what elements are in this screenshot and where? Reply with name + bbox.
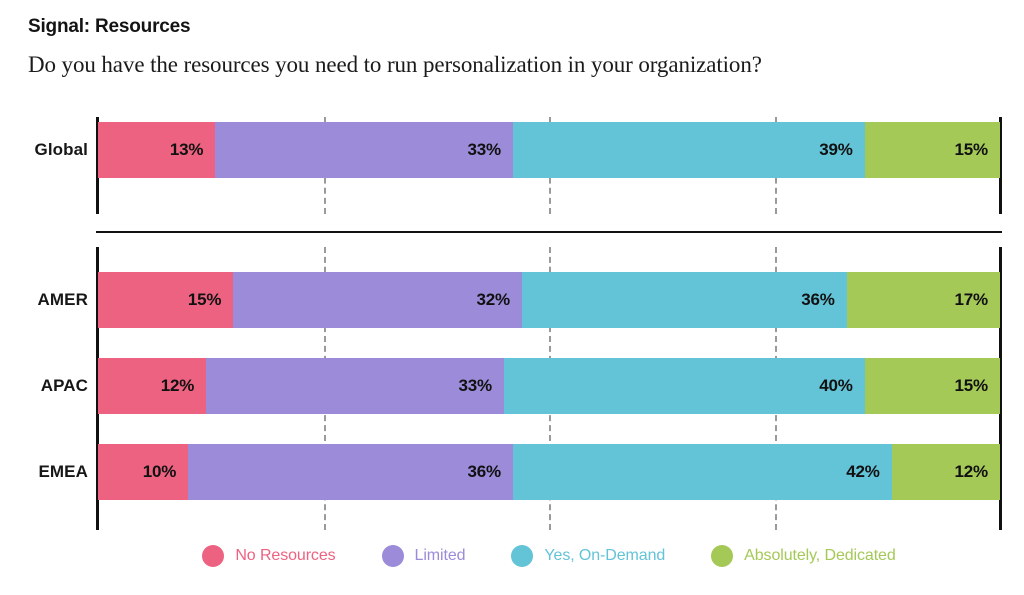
legend-label-limited: Limited xyxy=(415,547,466,565)
bar-segment-emea-no-resources[interactable]: 10% xyxy=(98,444,188,500)
legend-swatch-no-resources-icon xyxy=(202,545,224,567)
legend-label-absolutely-dedicated: Absolutely, Dedicated xyxy=(744,547,895,565)
legend-swatch-limited-icon xyxy=(382,545,404,567)
bar-segment-amer-no-resources[interactable]: 15% xyxy=(98,272,233,328)
bar-segment-global-yes-on-demand[interactable]: 39% xyxy=(513,122,865,178)
bar-segment-apac-absolutely-dedicated[interactable]: 15% xyxy=(865,358,1000,414)
legend-item-limited[interactable]: Limited xyxy=(382,545,466,567)
legend-swatch-yes-on-demand-icon xyxy=(511,545,533,567)
bar-segment-global-limited[interactable]: 33% xyxy=(215,122,513,178)
bar-segment-emea-yes-on-demand[interactable]: 42% xyxy=(513,444,892,500)
bar-segment-apac-limited[interactable]: 33% xyxy=(206,358,504,414)
legend-label-yes-on-demand: Yes, On-Demand xyxy=(544,547,665,565)
bar-segment-amer-absolutely-dedicated[interactable]: 17% xyxy=(847,272,1000,328)
bar-segment-global-absolutely-dedicated[interactable]: 15% xyxy=(865,122,1000,178)
bar-segment-apac-no-resources[interactable]: 12% xyxy=(98,358,206,414)
row-label-global: Global xyxy=(0,122,88,178)
bar-segment-emea-limited[interactable]: 36% xyxy=(188,444,513,500)
bar-segment-apac-yes-on-demand[interactable]: 40% xyxy=(504,358,865,414)
stacked-bar-amer: 15%32%36%17% xyxy=(98,272,1000,328)
stacked-bar-chart: Global13%33%39%15%AMER15%32%36%17%APAC12… xyxy=(0,0,1024,595)
bar-segment-amer-limited[interactable]: 32% xyxy=(233,272,522,328)
bar-segment-global-no-resources[interactable]: 13% xyxy=(98,122,215,178)
panel-divider xyxy=(96,231,1002,233)
legend-item-absolutely-dedicated[interactable]: Absolutely, Dedicated xyxy=(711,545,895,567)
stacked-bar-apac: 12%33%40%15% xyxy=(98,358,1000,414)
chart-legend: No ResourcesLimitedYes, On-DemandAbsolut… xyxy=(98,541,1000,571)
row-label-amer: AMER xyxy=(0,272,88,328)
row-label-emea: EMEA xyxy=(0,444,88,500)
bar-segment-emea-absolutely-dedicated[interactable]: 12% xyxy=(892,444,1000,500)
legend-swatch-absolutely-dedicated-icon xyxy=(711,545,733,567)
bar-segment-amer-yes-on-demand[interactable]: 36% xyxy=(522,272,847,328)
chart-page: Signal: Resources Do you have the resour… xyxy=(0,0,1024,595)
legend-item-no-resources[interactable]: No Resources xyxy=(202,545,335,567)
legend-item-yes-on-demand[interactable]: Yes, On-Demand xyxy=(511,545,665,567)
legend-label-no-resources: No Resources xyxy=(235,547,335,565)
row-label-apac: APAC xyxy=(0,358,88,414)
stacked-bar-global: 13%33%39%15% xyxy=(98,122,1000,178)
stacked-bar-emea: 10%36%42%12% xyxy=(98,444,1000,500)
